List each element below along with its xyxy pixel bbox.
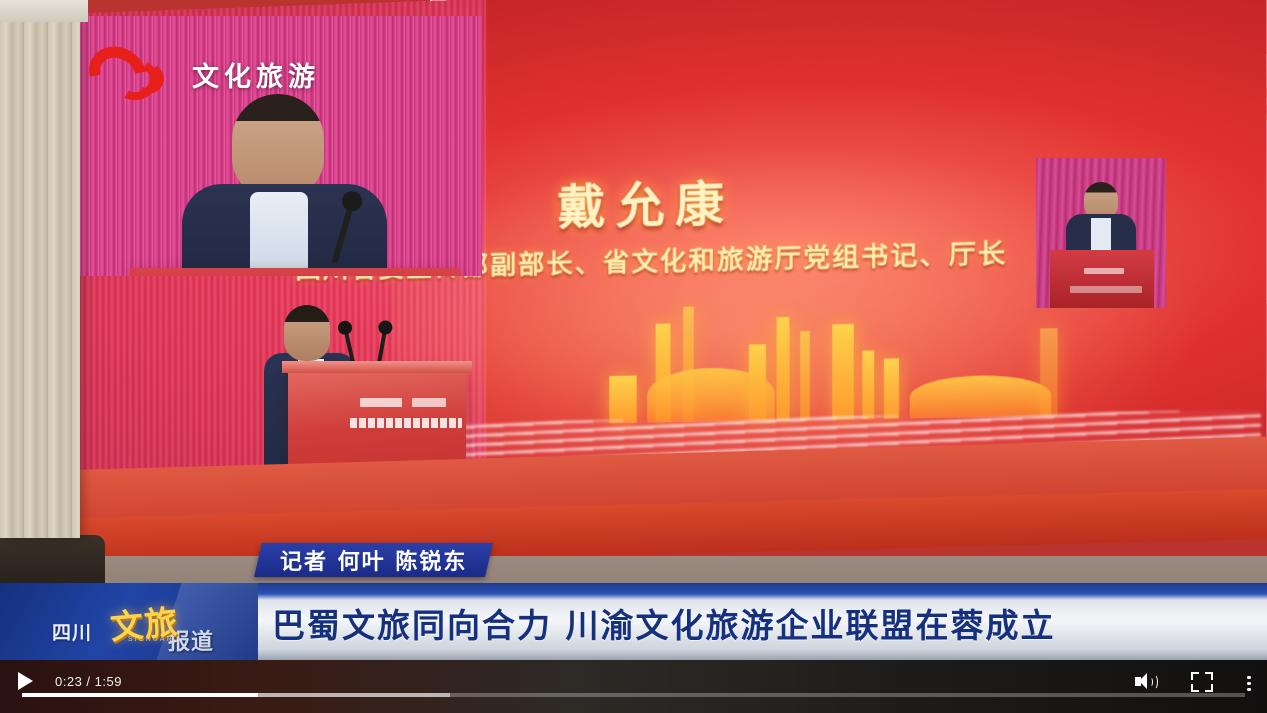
- reporter-credit-banner: 记者 何叶 陈锐东: [254, 543, 493, 577]
- program-logo-pinyin: SICHUAN: [128, 636, 174, 643]
- player-control-bar: 0:23 / 1:59: [0, 660, 1267, 713]
- podium-top: [282, 361, 472, 373]
- program-logo: 四川 报道 文旅 SICHUAN: [36, 596, 248, 652]
- speaker-head: [232, 94, 324, 198]
- player-left-controls: 0:23 / 1:59: [18, 672, 122, 690]
- window-curtain: [0, 18, 80, 538]
- progress-played: [22, 693, 258, 697]
- secondary-stage-screen: [1036, 158, 1166, 308]
- program-logo-region: 四川: [52, 618, 92, 645]
- curtain-rail: [0, 0, 88, 22]
- podium-event-text: [350, 418, 462, 428]
- speaker-head: [284, 305, 330, 361]
- more-options-icon[interactable]: [1247, 673, 1251, 691]
- headline-text: 巴蜀文旅同向合力 川渝文化旅游企业联盟在蓉成立: [272, 595, 1252, 651]
- video-player: 戴允康 四川省委宣传部副部长、省文化和旅游厅党组书记、厅长 文化旅游: [0, 0, 1267, 713]
- channel-watermark: 文化旅游: [88, 46, 320, 102]
- exit-fullscreen-icon[interactable]: [1191, 672, 1213, 692]
- sctv-swirl-logo-icon: [88, 46, 174, 102]
- podium-inset: [130, 268, 460, 276]
- channel-name: 文化旅游: [192, 55, 320, 94]
- play-icon[interactable]: [18, 672, 33, 690]
- reporter-credit-text: 记者 何叶 陈锐东: [280, 544, 467, 576]
- time-display: 0:23 / 1:59: [55, 674, 122, 689]
- video-frame[interactable]: 戴允康 四川省委宣传部副部长、省文化和旅游厅党组书记、厅长 文化旅游: [0, 0, 1267, 660]
- podium-sponsor-logos: [360, 398, 450, 407]
- podium-inset: [1050, 250, 1154, 308]
- volume-icon[interactable]: [1135, 672, 1157, 692]
- speaker-shirt: [250, 192, 308, 276]
- player-right-controls: [1135, 672, 1251, 692]
- speaker-shirt: [1091, 218, 1111, 252]
- progress-bar[interactable]: [22, 693, 1245, 697]
